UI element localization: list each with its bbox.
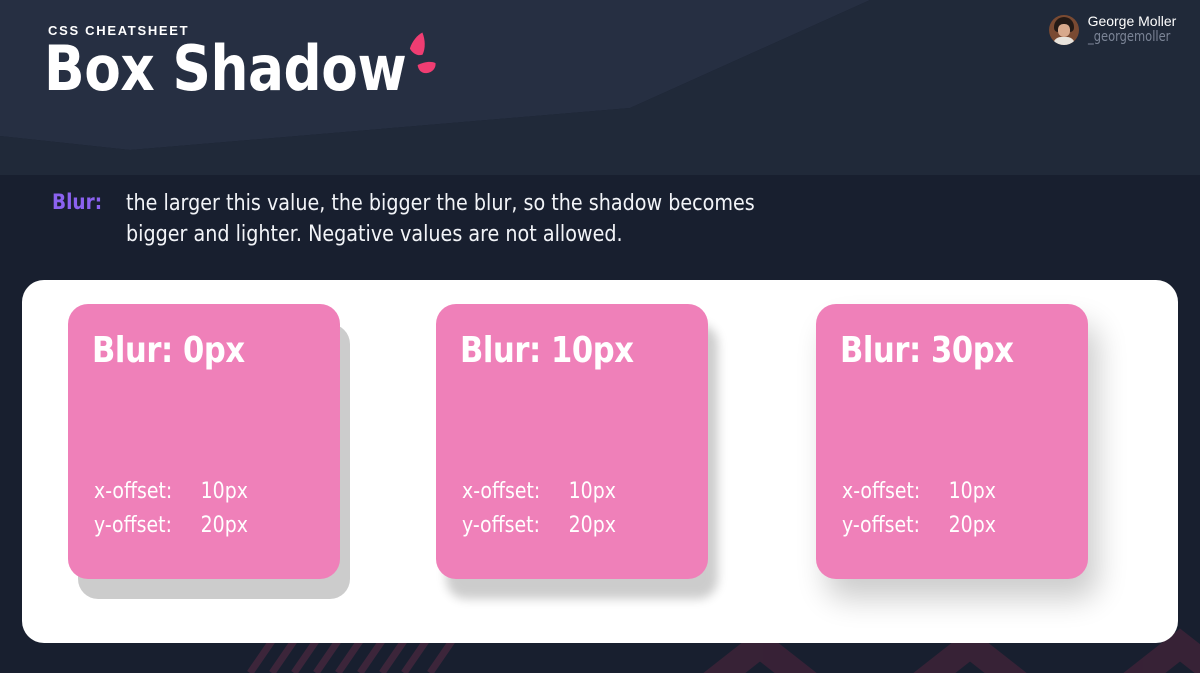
author-text: George Moller _georgemoller: [1088, 14, 1188, 45]
property-value: 10px: [201, 475, 248, 509]
author-handle: _georgemoller: [1088, 30, 1170, 46]
cheatsheet-slide: CSS CHEATSHEET Box Shadow George Moller …: [0, 0, 1200, 673]
card-title: Blur: 30px: [840, 330, 1030, 371]
property-value: 20px: [201, 509, 248, 543]
property-row: x-offset: 10px: [94, 475, 248, 509]
property-key: x-offset:: [94, 475, 201, 509]
demo-card-blur-10[interactable]: Blur: 10px x-offset: 10px y-offset: 20px: [436, 304, 708, 579]
property-row: y-offset: 20px: [94, 509, 248, 543]
card-properties: x-offset: 10px y-offset: 20px: [94, 475, 248, 543]
card-properties: x-offset: 10px y-offset: 20px: [462, 475, 616, 543]
property-value: 10px: [569, 475, 616, 509]
card-list: Blur: 0px x-offset: 10px y-offset: 20px …: [22, 280, 1178, 643]
demo-card-blur-30[interactable]: Blur: 30px x-offset: 10px y-offset: 20px: [816, 304, 1088, 579]
property-row: x-offset: 10px: [842, 475, 996, 509]
page-title: Box Shadow: [44, 36, 406, 101]
author-badge[interactable]: George Moller _georgemoller: [1049, 14, 1188, 45]
avatar-body: [1053, 37, 1075, 45]
property-row: x-offset: 10px: [462, 475, 616, 509]
property-row: y-offset: 20px: [462, 509, 616, 543]
description-text: the larger this value, the bigger the bl…: [126, 188, 755, 250]
property-value: 10px: [949, 475, 996, 509]
property-row: y-offset: 20px: [842, 509, 996, 543]
property-key: x-offset:: [842, 475, 949, 509]
card-title: Blur: 0px: [92, 330, 282, 371]
sparkle-accent-icon: [386, 28, 446, 80]
demo-panel: Blur: 0px x-offset: 10px y-offset: 20px …: [22, 280, 1178, 643]
description-label: Blur:: [52, 188, 102, 214]
property-key: y-offset:: [94, 509, 201, 543]
property-value: 20px: [949, 509, 996, 543]
avatar-face: [1058, 24, 1070, 37]
property-value: 20px: [569, 509, 616, 543]
card-properties: x-offset: 10px y-offset: 20px: [842, 475, 996, 543]
property-key: y-offset:: [842, 509, 949, 543]
card-title: Blur: 10px: [460, 330, 650, 371]
demo-card-blur-0[interactable]: Blur: 0px x-offset: 10px y-offset: 20px: [68, 304, 340, 579]
property-key: y-offset:: [462, 509, 569, 543]
author-name: George Moller: [1088, 14, 1188, 30]
description-block: Blur: the larger this value, the bigger …: [52, 188, 849, 250]
avatar: [1049, 15, 1079, 45]
property-key: x-offset:: [462, 475, 569, 509]
